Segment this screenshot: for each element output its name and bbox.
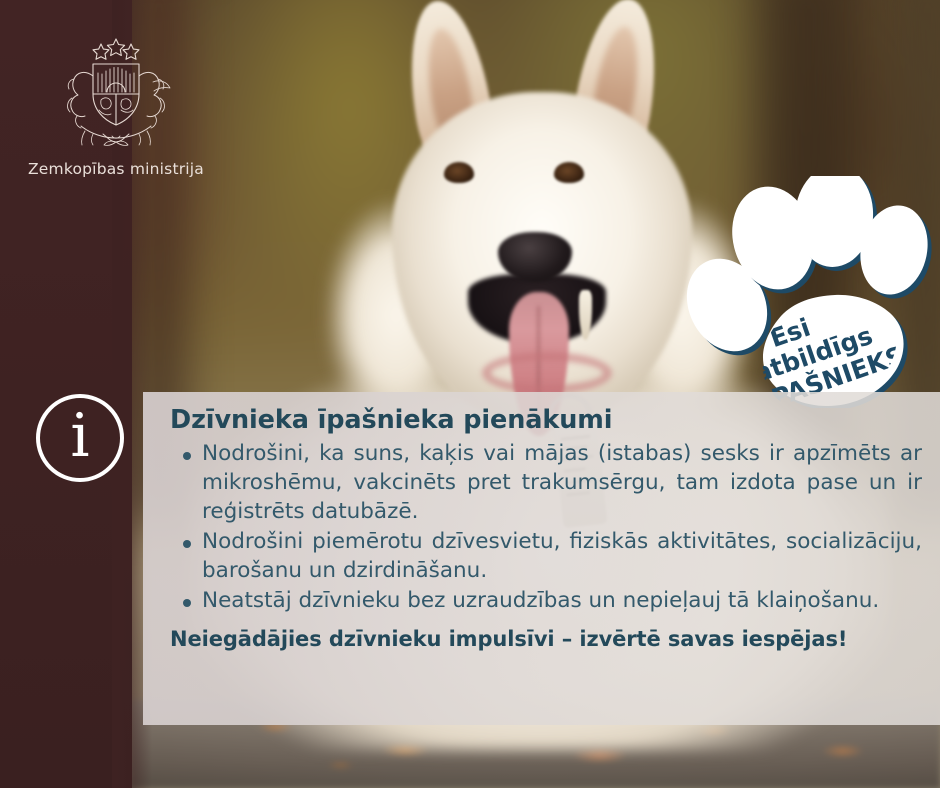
panel-title: Dzīvnieka īpašnieka pienākumi <box>170 405 922 435</box>
duties-list: Nodrošini, ka suns, kaķis vai mājas (ist… <box>157 440 922 615</box>
panel-footer-callout: Neiegādājies dzīvnieku impulsīvi – izvēr… <box>170 627 922 651</box>
dog-collar <box>482 352 612 394</box>
dog-eye-left <box>444 162 474 183</box>
latvian-coat-of-arms-icon <box>41 30 191 152</box>
duties-panel: Dzīvnieka īpašnieka pienākumi Nodrošini,… <box>143 392 940 725</box>
info-circle-icon: i <box>36 394 124 482</box>
dog-eye-right <box>554 162 584 183</box>
poster: Zemkopības ministrija <box>0 0 940 788</box>
list-item: Nodrošini, ka suns, kaķis vai mājas (ist… <box>157 440 922 527</box>
info-glyph: i <box>70 406 89 466</box>
list-item: Neatstāj dzīvnieku bez uzraudzības un ne… <box>157 587 922 616</box>
list-item: Nodrošini piemērotu dzīvesvietu, fiziskā… <box>157 528 922 586</box>
paw-print-icon: Esi atbildīgs ĪPAŠNIEKS! <box>684 176 940 408</box>
ministry-logo: Zemkopības ministrija <box>18 30 214 178</box>
paw-badge[interactable]: Esi atbildīgs ĪPAŠNIEKS! <box>684 176 940 408</box>
ministry-name: Zemkopības ministrija <box>18 160 214 178</box>
